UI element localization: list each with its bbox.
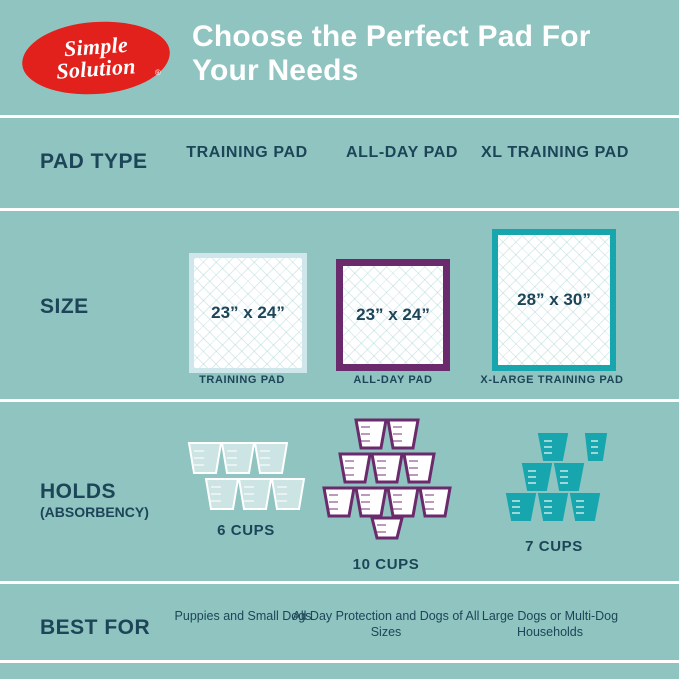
brand-logo: Simple Solution ® <box>22 22 170 94</box>
best-for-xl-training: Large Dogs or Multi-Dog Households <box>455 608 645 640</box>
divider-4 <box>0 581 679 584</box>
cups-label-training: 6 CUPS <box>166 522 326 539</box>
row-label-holds: HOLDS (ABSORBENCY) <box>40 480 149 520</box>
cups-group-xl-training <box>498 432 610 528</box>
pad-caption-all-day: ALL-DAY PAD <box>303 374 483 386</box>
pad-swatch-training: 23” x 24” <box>189 253 307 373</box>
divider-2 <box>0 208 679 211</box>
row-label-holds-sub: (ABSORBENCY) <box>40 504 149 520</box>
footer-strip <box>0 663 679 679</box>
cups-label-xl-training: 7 CUPS <box>474 538 634 555</box>
pad-caption-xl-training: X-LARGE TRAINING PAD <box>462 374 642 386</box>
best-for-all-day: All Day Protection and Dogs of All Sizes <box>291 608 481 640</box>
cups-group-training <box>186 440 306 520</box>
column-title-training: TRAINING PAD <box>172 143 322 163</box>
cups-icon-training <box>186 440 306 520</box>
pad-size-training: 23” x 24” <box>194 303 302 323</box>
row-label-size: SIZE <box>40 295 89 319</box>
cups-icon-xl-training <box>498 432 610 528</box>
cups-group-all-day <box>320 418 452 540</box>
column-title-all-day: ALL-DAY PAD <box>327 143 477 163</box>
column-title-xl-training: XL TRAINING PAD <box>480 143 630 163</box>
logo-trademark: ® <box>155 68 162 77</box>
divider-3 <box>0 399 679 402</box>
pad-swatch-xl-training: 28” x 30” <box>492 229 616 371</box>
pad-size-xl-training: 28” x 30” <box>498 290 610 310</box>
divider-1 <box>0 115 679 118</box>
row-label-holds-main: HOLDS <box>40 480 116 503</box>
page-title: Choose the Perfect Pad For Your Needs <box>192 20 662 88</box>
pad-size-all-day: 23” x 24” <box>343 305 443 325</box>
header: Simple Solution ® Choose the Perfect Pad… <box>0 0 679 115</box>
row-label-best-for: BEST FOR <box>40 616 150 640</box>
cups-label-all-day: 10 CUPS <box>306 556 466 573</box>
infographic-root: Simple Solution ® Choose the Perfect Pad… <box>0 0 679 679</box>
cups-icon-all-day <box>320 418 452 540</box>
pad-swatch-all-day: 23” x 24” <box>336 259 450 371</box>
row-label-pad-type: PAD TYPE <box>40 150 147 174</box>
